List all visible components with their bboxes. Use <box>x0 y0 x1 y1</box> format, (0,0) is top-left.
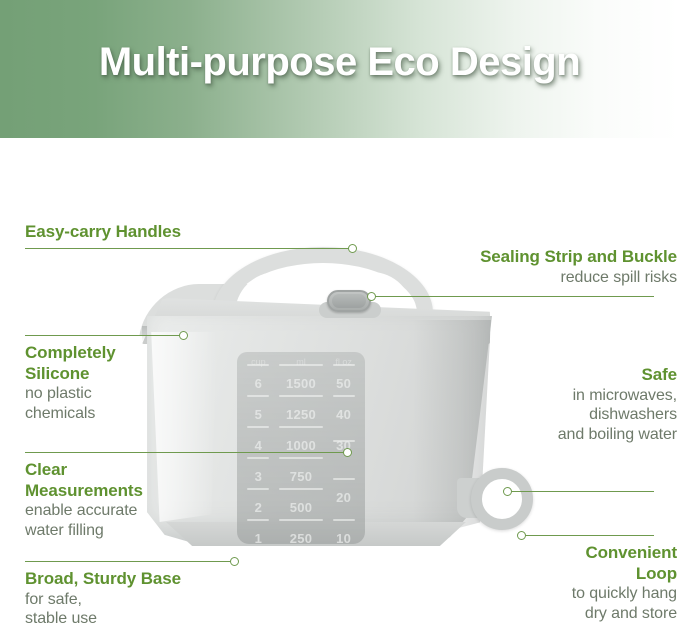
leader-line-clear-measurements <box>25 452 346 453</box>
callout-broad-sturdy-base: Broad, Sturdy Base for safe, stable use <box>25 569 181 629</box>
callout-title: Easy-carry Handles <box>25 222 181 243</box>
callout-sub: reduce spill risks <box>237 268 677 288</box>
leader-dot-sealing-strip <box>367 292 376 301</box>
infographic-canvas: Multi-purpose Eco Design cup ml fl oz 6 … <box>0 0 679 634</box>
callout-sub-line1: in microwaves, <box>237 386 677 406</box>
leader-line-sealing-strip <box>372 296 654 297</box>
floz-value: 20 <box>336 491 351 504</box>
callout-sub-line2: dishwashers <box>237 405 677 425</box>
leader-line-broad-base <box>25 561 233 562</box>
callout-title: Safe <box>237 365 677 386</box>
cup-value: 3 <box>255 470 263 483</box>
callout-sub-line1: for safe, <box>25 590 181 610</box>
callout-title-line1: Convenient <box>237 543 677 564</box>
callout-clear-measurements: Clear Measurements enable accurate water… <box>25 460 143 541</box>
leader-dot-clear-measurements <box>343 448 352 457</box>
header-banner: Multi-purpose Eco Design <box>0 0 679 138</box>
callout-sub-line2: dry and store <box>237 604 677 624</box>
callout-title: Sealing Strip and Buckle <box>237 247 677 268</box>
callout-easy-carry-handles: Easy-carry Handles <box>25 222 181 243</box>
callout-convenient-loop: Convenient Loop to quickly hang dry and … <box>237 543 677 624</box>
measurement-row: 1 250 10 <box>237 519 365 545</box>
leader-dot-completely-silicone <box>179 331 188 340</box>
leader-line-convenient-loop <box>522 535 654 536</box>
callout-sub-line1: enable accurate <box>25 501 143 521</box>
callout-title-line1: Clear <box>25 460 143 481</box>
leader-line-safe <box>508 491 654 492</box>
callout-sub-line2: chemicals <box>25 404 116 424</box>
callout-sealing-strip-and-buckle: Sealing Strip and Buckle reduce spill ri… <box>237 247 677 287</box>
callout-sub-line1: to quickly hang <box>237 584 677 604</box>
leader-dot-safe <box>503 487 512 496</box>
callout-title-line2: Measurements <box>25 481 143 502</box>
ml-value: 750 <box>290 470 313 483</box>
callout-title-line2: Silicone <box>25 364 116 385</box>
callout-title-line1: Completely <box>25 343 116 364</box>
leader-dot-convenient-loop <box>517 531 526 540</box>
callout-completely-silicone: Completely Silicone no plastic chemicals <box>25 343 116 424</box>
callout-sub-line3: and boiling water <box>237 425 677 445</box>
buckle-core <box>332 294 366 308</box>
leader-line-completely-silicone <box>25 335 183 336</box>
callout-title: Broad, Sturdy Base <box>25 569 181 590</box>
callout-sub-line2: water filling <box>25 521 143 541</box>
measurement-row: 2 500 20 <box>237 488 365 514</box>
callout-sub-line2: stable use <box>25 609 181 629</box>
hanging-loop <box>471 468 533 530</box>
callout-safe: Safe in microwaves, dishwashers and boil… <box>237 365 677 444</box>
callout-title-line2: Loop <box>237 564 677 585</box>
callout-sub-line1: no plastic <box>25 384 116 404</box>
cup-value: 2 <box>255 501 263 514</box>
page-title: Multi-purpose Eco Design <box>0 40 679 85</box>
ml-value: 500 <box>290 501 313 514</box>
